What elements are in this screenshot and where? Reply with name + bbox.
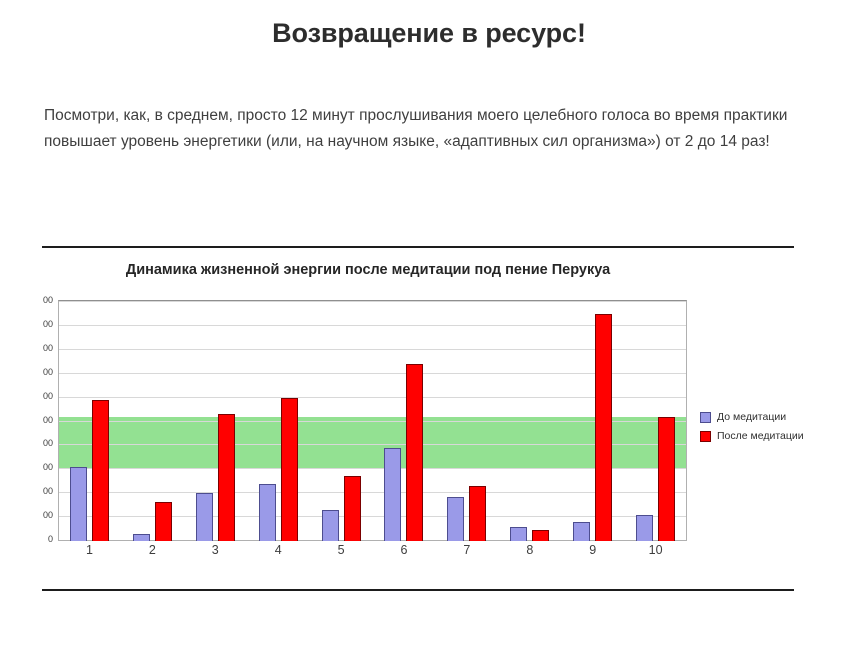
x-axis-tick: 1	[58, 543, 121, 557]
y-axis-tick: 0	[48, 534, 53, 544]
gridline	[59, 468, 686, 469]
x-axis-tick: 8	[498, 543, 561, 557]
chart-container: Динамика жизненной энергии после медитац…	[0, 256, 858, 576]
x-axis-tick: 5	[310, 543, 373, 557]
legend-item-after: После медитации	[700, 430, 850, 442]
divider-bottom	[42, 589, 794, 591]
legend-swatch-after-icon	[700, 431, 711, 442]
chart-legend: До медитации После медитации	[700, 411, 850, 449]
gridline	[59, 301, 686, 302]
x-axis-tick: 9	[561, 543, 624, 557]
x-axis-tick: 10	[624, 543, 687, 557]
x-axis-tick: 2	[121, 543, 184, 557]
legend-swatch-before-icon	[700, 412, 711, 423]
chart-title: Динамика жизненной энергии после медитац…	[58, 262, 678, 278]
legend-item-before: До медитации	[700, 411, 850, 423]
y-axis-tick: 00	[40, 391, 53, 401]
divider-top	[42, 246, 794, 248]
gridline	[59, 397, 686, 398]
y-axis-labels: 000000000000000000000	[0, 300, 56, 541]
slide-root: Возвращение в ресурс! Посмотри, как, в с…	[0, 0, 858, 645]
gridline	[59, 492, 686, 493]
y-axis-tick: 00	[40, 462, 53, 472]
y-axis-tick: 00	[40, 415, 53, 425]
y-axis-tick: 00	[40, 319, 53, 329]
x-axis-tick: 4	[247, 543, 310, 557]
x-axis-tick: 6	[373, 543, 436, 557]
y-axis-tick: 00	[40, 438, 53, 448]
gridline	[59, 421, 686, 422]
plot-area	[58, 300, 687, 541]
gridline	[59, 444, 686, 445]
x-axis-tick: 3	[184, 543, 247, 557]
y-axis-tick: 00	[40, 295, 53, 305]
legend-label-after: После медитации	[717, 430, 804, 442]
gridline	[59, 349, 686, 350]
x-axis-tick: 7	[435, 543, 498, 557]
y-axis-tick: 00	[40, 343, 53, 353]
gridline	[59, 325, 686, 326]
page-title: Возвращение в ресурс!	[0, 18, 858, 49]
x-axis-labels: 12345678910	[58, 543, 687, 557]
legend-label-before: До медитации	[717, 411, 786, 423]
y-axis-tick: 00	[40, 510, 53, 520]
reference-band	[59, 417, 686, 468]
gridline	[59, 373, 686, 374]
intro-paragraph: Посмотри, как, в среднем, просто 12 мину…	[44, 103, 804, 155]
y-axis-tick: 00	[40, 486, 53, 496]
y-axis-tick: 00	[40, 367, 53, 377]
gridline	[59, 516, 686, 517]
